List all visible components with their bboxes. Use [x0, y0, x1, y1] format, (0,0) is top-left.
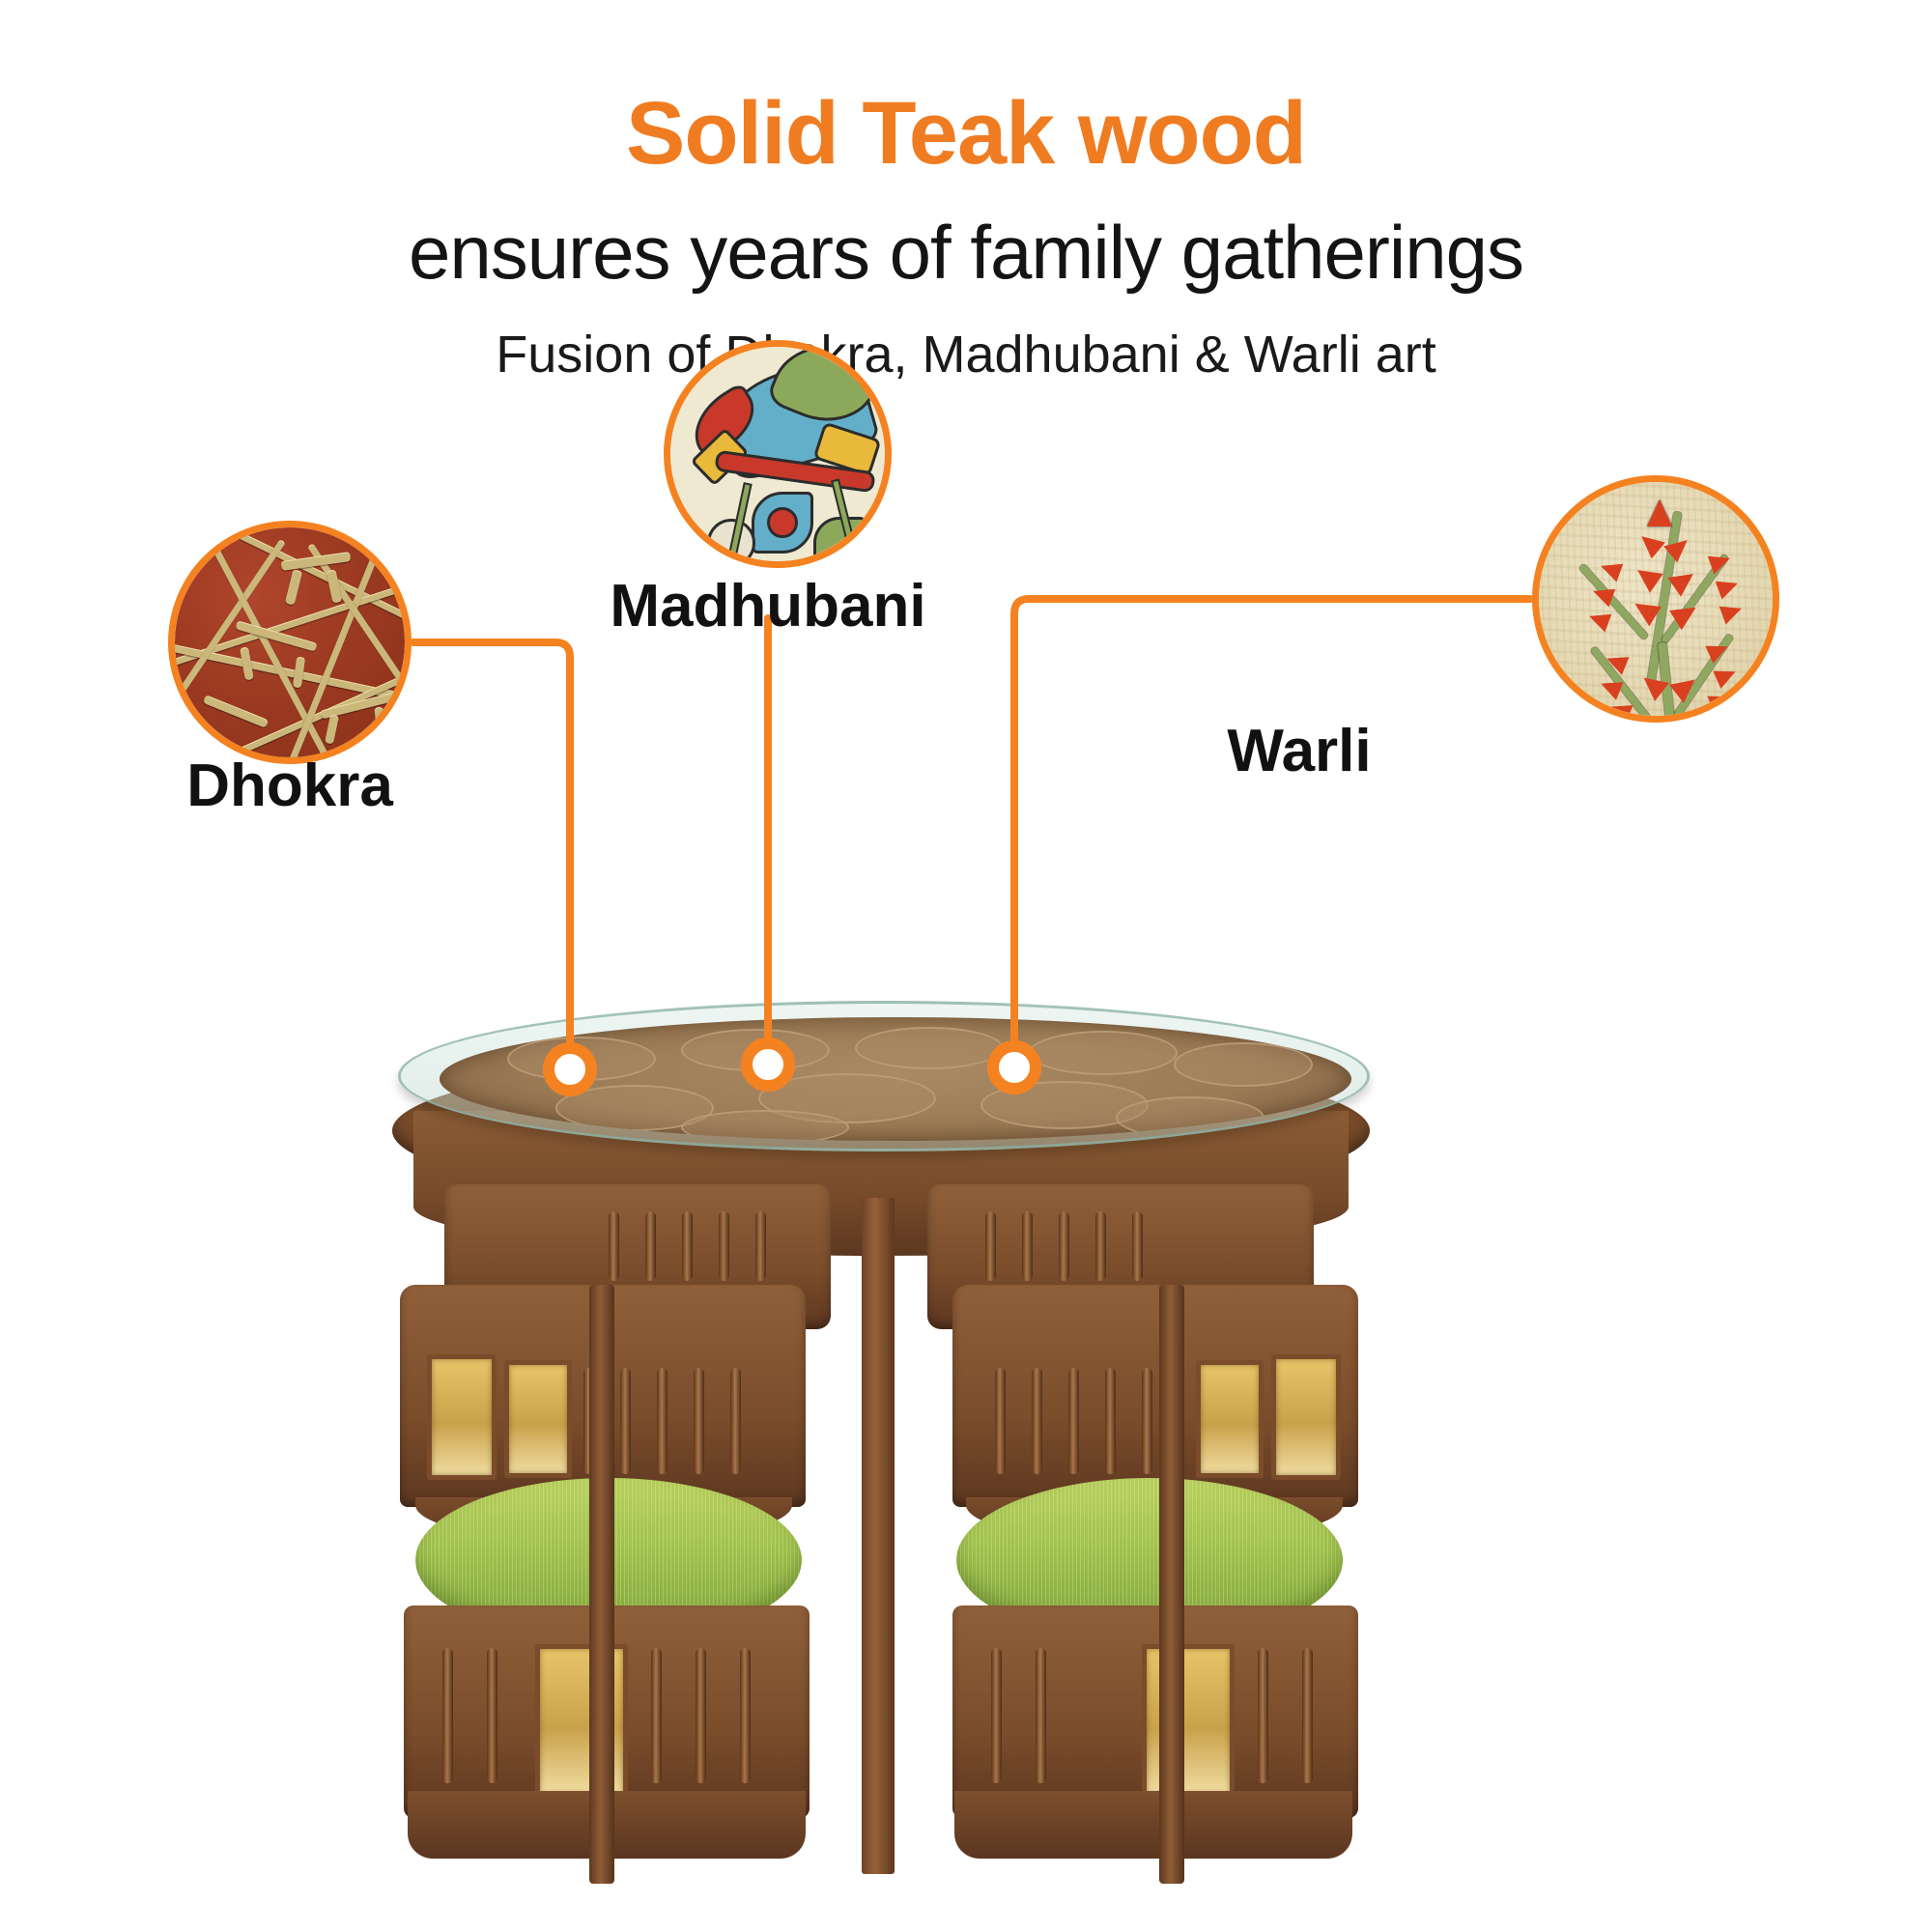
- callout-label-warli: Warli: [1154, 717, 1444, 785]
- connector-line-dhokra: [413, 642, 570, 1058]
- callout-label-madhubani: Madhubani: [575, 572, 961, 640]
- connector-line-warli: [1014, 599, 1530, 1056]
- callout-connectors: [0, 0, 1932, 1932]
- madhubani-folk-painting-art: [670, 347, 885, 561]
- callout-badge-dhokra[interactable]: [168, 521, 412, 764]
- connector-marker-madhubani: [747, 1043, 789, 1086]
- warli-tribal-painting-art: [1539, 482, 1773, 716]
- connector-marker-warli: [993, 1046, 1036, 1089]
- infographic-canvas: Solid Teak wood ensures years of family …: [0, 0, 1932, 1932]
- connector-marker-dhokra: [549, 1048, 591, 1091]
- callout-badge-warli[interactable]: [1532, 475, 1779, 723]
- dhokra-brass-wirework-art: [175, 527, 405, 757]
- callout-label-dhokra: Dhokra: [135, 752, 444, 820]
- callout-badge-madhubani[interactable]: [664, 340, 892, 568]
